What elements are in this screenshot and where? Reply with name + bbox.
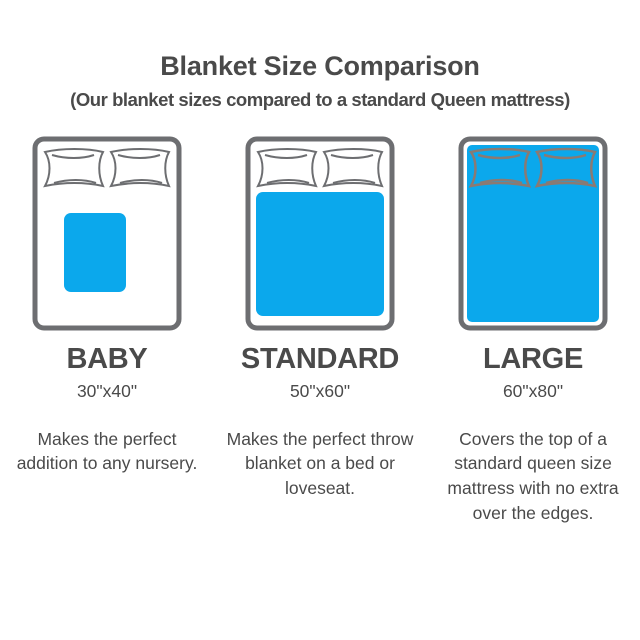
comparison-column-large: LARGE 60"x80" Covers the top of a standa… — [427, 136, 640, 526]
blanket-large — [467, 145, 599, 322]
size-name-baby: BABY — [67, 345, 148, 374]
size-name-standard: STANDARD — [241, 345, 399, 374]
bed-diagram-baby — [32, 136, 182, 331]
comparison-column-baby: BABY 30"x40" Makes the perfect addition … — [1, 136, 214, 476]
size-dimensions-large: 60"x80" — [503, 383, 563, 401]
page-subtitle: (Our blanket sizes compared to a standar… — [0, 90, 640, 110]
blanket-baby — [64, 213, 126, 292]
blanket-standard — [256, 192, 384, 316]
bed-diagram-standard — [245, 136, 395, 331]
blanket-size-comparison-infographic: Blanket Size Comparison (Our blanket siz… — [0, 0, 640, 640]
pillow-right — [111, 149, 169, 186]
size-dimensions-baby: 30"x40" — [77, 383, 137, 401]
header: Blanket Size Comparison (Our blanket siz… — [0, 0, 640, 110]
description-large: Covers the top of a standard queen size … — [438, 427, 628, 526]
pillow-left — [45, 149, 103, 186]
pillow-left — [258, 149, 316, 186]
description-baby: Makes the perfect addition to any nurser… — [12, 427, 202, 477]
pillow-right — [324, 149, 382, 186]
size-name-large: LARGE — [483, 345, 583, 374]
comparison-column-standard: STANDARD 50"x60" Makes the perfect throw… — [214, 136, 427, 501]
description-standard: Makes the perfect throw blanket on a bed… — [225, 427, 415, 502]
bed-diagram-large — [458, 136, 608, 331]
size-dimensions-standard: 50"x60" — [290, 383, 350, 401]
comparison-columns: BABY 30"x40" Makes the perfect addition … — [0, 136, 640, 526]
page-title: Blanket Size Comparison — [0, 52, 640, 82]
